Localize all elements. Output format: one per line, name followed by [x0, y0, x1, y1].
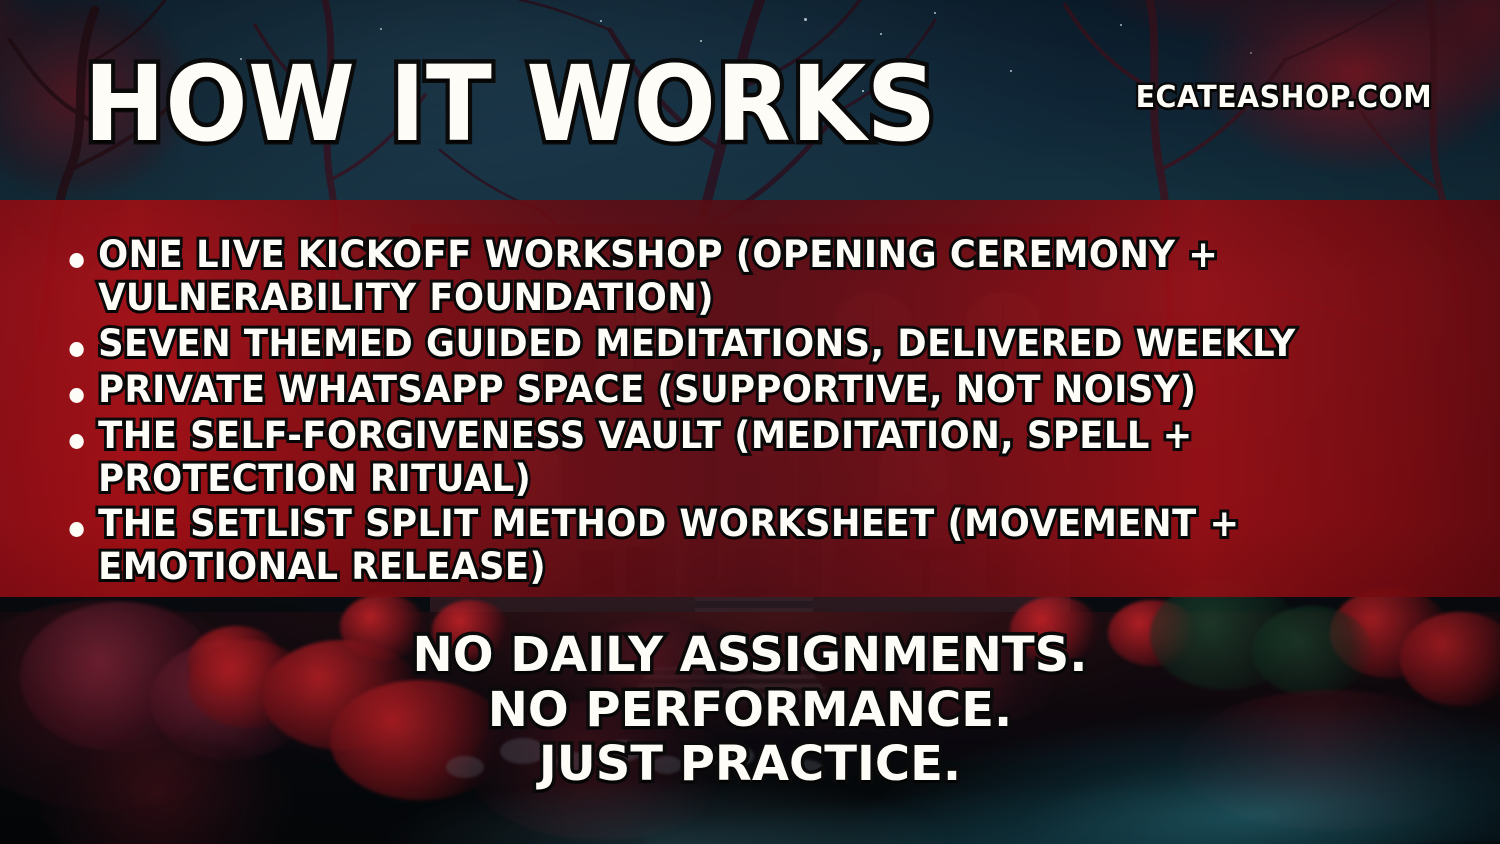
list-item: THE SELF-FORGIVENESS VAULT (MEDITATION, … — [58, 415, 1414, 501]
list-item: SEVEN THEMED GUIDED MEDITATIONS, DELIVER… — [58, 323, 1414, 366]
bullet-dot-icon — [69, 388, 83, 403]
slide-canvas: HOW IT WORKS ECATEASHOP.COM ONE LIVE KIC… — [0, 0, 1500, 844]
bullet-dot-icon — [69, 342, 83, 357]
list-item: THE SETLIST SPLIT METHOD WORKSHEET (MOVE… — [58, 503, 1414, 589]
list-item-label: THE SELF-FORGIVENESS VAULT (MEDITATION, … — [98, 414, 1193, 500]
features-list: ONE LIVE KICKOFF WORKSHOP (OPENING CEREM… — [58, 234, 1478, 592]
footer-line: NO PERFORMANCE. — [0, 683, 1500, 738]
site-url-label: ECATEASHOP.COM — [1136, 80, 1432, 115]
list-item-label: ONE LIVE KICKOFF WORKSHOP (OPENING CEREM… — [98, 233, 1218, 319]
bullet-dot-icon — [69, 434, 83, 449]
bullet-dot-icon — [69, 522, 83, 537]
footer-statement: NO DAILY ASSIGNMENTS. NO PERFORMANCE. JU… — [0, 628, 1500, 792]
footer-line: JUST PRACTICE. — [0, 737, 1500, 792]
footer-line: NO DAILY ASSIGNMENTS. — [0, 628, 1500, 683]
list-item-label: THE SETLIST SPLIT METHOD WORKSHEET (MOVE… — [98, 502, 1239, 588]
list-item: ONE LIVE KICKOFF WORKSHOP (OPENING CEREM… — [58, 234, 1414, 320]
bullet-dot-icon — [69, 253, 83, 268]
list-item-label: PRIVATE WHATSAPP SPACE (SUPPORTIVE, NOT … — [98, 368, 1196, 411]
list-item-label: SEVEN THEMED GUIDED MEDITATIONS, DELIVER… — [98, 322, 1296, 365]
list-item: PRIVATE WHATSAPP SPACE (SUPPORTIVE, NOT … — [58, 369, 1414, 412]
page-title: HOW IT WORKS — [84, 52, 937, 156]
